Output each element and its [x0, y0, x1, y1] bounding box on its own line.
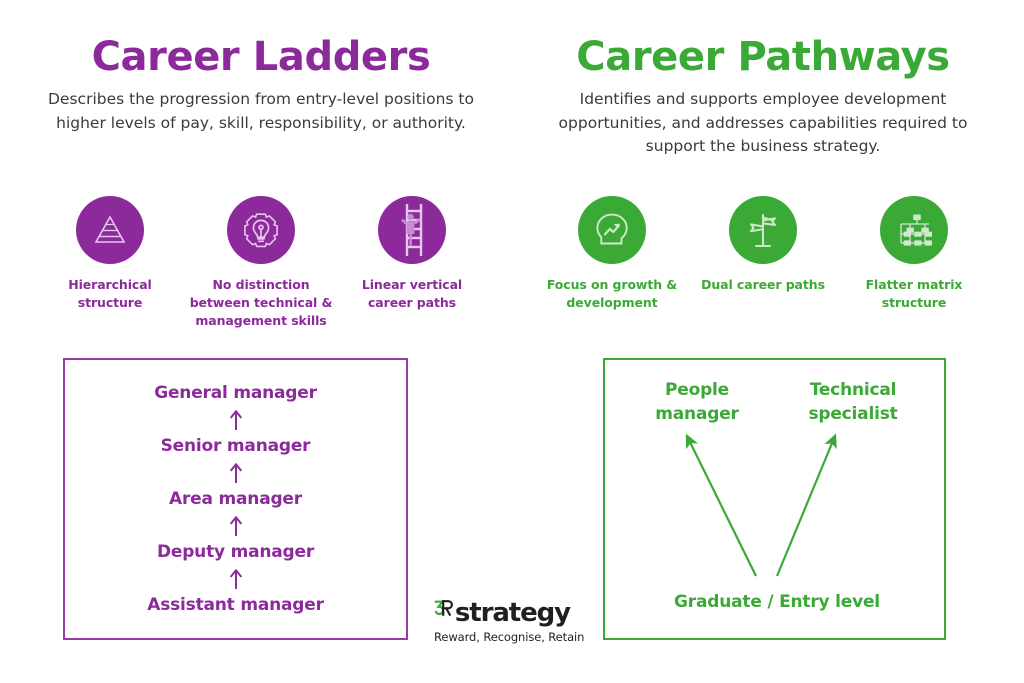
lightbulb-gear-icon — [227, 196, 295, 264]
career-ladders-title: Career Ladders — [26, 36, 496, 78]
feature-label: Linear vertical career paths — [338, 276, 486, 312]
career-ladders-feature-row: Hierarchical structure — [26, 196, 496, 329]
ladder-level-assistant-manager: Assistant manager — [147, 597, 324, 614]
career-ladder-diagram: General manager Senior manager Area mana… — [63, 358, 408, 640]
org-chart-matrix-icon — [880, 196, 948, 264]
infographic-canvas: Career Ladders Describes the progression… — [0, 0, 1024, 683]
feature-hierarchical-structure: Hierarchical structure — [36, 196, 184, 329]
feature-label: Focus on growth & development — [538, 276, 686, 312]
logo-tagline: Reward, Recognise, Retain — [434, 630, 570, 644]
career-pathways-description: Identifies and supports employee develop… — [530, 88, 996, 159]
up-arrow-icon — [229, 462, 243, 484]
feature-flatter-matrix: Flatter matrix structure — [840, 196, 988, 312]
ladder-level-stack: General manager Senior manager Area mana… — [65, 360, 406, 638]
logo-word: strategy — [455, 600, 570, 626]
pathway-diagram-inner: People manager Technical specialist Grad… — [605, 360, 944, 638]
up-arrow-icon — [229, 515, 243, 537]
feature-label: Dual career paths — [701, 276, 825, 294]
ladder-level-deputy-manager: Deputy manager — [157, 544, 314, 561]
3r-mark-icon — [434, 595, 455, 621]
company-logo: strategy Reward, Recognise, Retain — [434, 595, 570, 644]
pathway-node-technical-specialist: Technical specialist — [783, 378, 923, 426]
pathway-node-graduate-entry-level: Graduate / Entry level — [627, 590, 927, 614]
ladder-level-senior-manager: Senior manager — [161, 438, 311, 455]
pathway-node-people-manager: People manager — [627, 378, 767, 426]
ladder-climber-icon — [378, 196, 446, 264]
feature-dual-career-paths: Dual career paths — [689, 196, 837, 312]
feature-label: Flatter matrix structure — [840, 276, 988, 312]
ladder-level-general-manager: General manager — [154, 385, 317, 402]
ladder-level-area-manager: Area manager — [169, 491, 302, 508]
career-pathways-title: Career Pathways — [528, 36, 998, 78]
head-growth-arrow-icon — [578, 196, 646, 264]
career-ladders-description: Describes the progression from entry-lev… — [26, 88, 496, 135]
feature-linear-vertical: Linear vertical career paths — [338, 196, 486, 329]
up-arrow-icon — [229, 568, 243, 590]
career-pathway-diagram: People manager Technical specialist Grad… — [603, 358, 946, 640]
signpost-icon — [729, 196, 797, 264]
feature-no-distinction: No distinction between technical & manag… — [187, 196, 335, 329]
pyramid-icon — [76, 196, 144, 264]
feature-focus-on-growth: Focus on growth & development — [538, 196, 686, 312]
feature-label: No distinction between technical & manag… — [187, 276, 335, 329]
career-pathways-feature-row: Focus on growth & development Dual c — [528, 196, 998, 312]
up-arrow-icon — [229, 409, 243, 431]
logo-wordmark: strategy — [434, 595, 570, 626]
feature-label: Hierarchical structure — [36, 276, 184, 312]
